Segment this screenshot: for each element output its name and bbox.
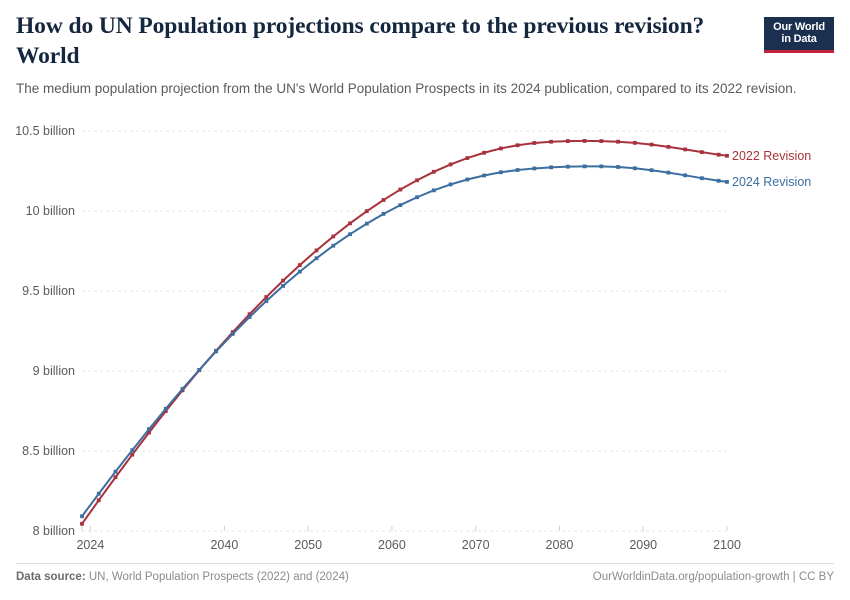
- x-tick-label-4: 2070: [462, 538, 490, 552]
- data-source-text: Data source: UN, World Population Prospe…: [16, 571, 349, 583]
- data-point-marker: [633, 141, 637, 145]
- data-point-marker: [532, 141, 536, 145]
- data-point-marker: [616, 140, 620, 144]
- data-point-marker: [583, 139, 587, 143]
- data-point-marker: [566, 165, 570, 169]
- data-point-marker: [725, 180, 729, 184]
- data-point-marker: [633, 166, 637, 170]
- data-point-marker: [248, 315, 252, 319]
- data-point-marker: [197, 368, 201, 372]
- data-point-marker: [700, 150, 704, 154]
- data-point-marker: [97, 498, 101, 502]
- data-point-marker: [382, 212, 386, 216]
- data-point-marker: [516, 143, 520, 147]
- data-point-marker: [449, 183, 453, 187]
- data-point-marker: [516, 168, 520, 172]
- y-tick-label-5: 8 billion: [5, 524, 75, 538]
- y-tick-label-2: 9.5 billion: [5, 284, 75, 298]
- data-point-marker: [432, 170, 436, 174]
- chart-canvas: 10.5 billion10 billion9.5 billion9 billi…: [0, 118, 850, 558]
- data-point-marker: [415, 178, 419, 182]
- data-point-marker: [549, 165, 553, 169]
- data-point-marker: [432, 188, 436, 192]
- data-point-marker: [80, 522, 84, 526]
- data-point-marker: [666, 145, 670, 149]
- data-point-marker: [97, 492, 101, 496]
- data-point-marker: [683, 148, 687, 152]
- data-point-marker: [700, 176, 704, 180]
- data-point-marker: [717, 179, 721, 183]
- data-point-marker: [499, 170, 503, 174]
- data-point-marker: [566, 139, 570, 143]
- data-point-marker: [415, 195, 419, 199]
- data-point-marker: [725, 154, 729, 158]
- data-point-marker: [683, 173, 687, 177]
- chart-header: How do UN Population projections compare…: [16, 12, 834, 98]
- data-point-marker: [650, 168, 654, 172]
- data-point-marker: [666, 171, 670, 175]
- y-tick-label-4: 8.5 billion: [5, 444, 75, 458]
- x-tick-label-2: 2050: [294, 538, 322, 552]
- data-point-marker: [616, 165, 620, 169]
- data-point-marker: [365, 222, 369, 226]
- series-line: [82, 141, 727, 524]
- legend-item-2[interactable]: 2024 Revision: [732, 175, 811, 189]
- data-point-marker: [398, 188, 402, 192]
- data-point-marker: [465, 156, 469, 160]
- x-tick-label-0: 2024: [76, 538, 104, 552]
- data-source-value: UN, World Population Prospects (2022) an…: [86, 571, 349, 583]
- chart-footer: Data source: UN, World Population Prospe…: [16, 563, 834, 571]
- data-point-marker: [315, 248, 319, 252]
- data-point-marker: [583, 164, 587, 168]
- data-point-marker: [650, 143, 654, 147]
- data-point-marker: [398, 203, 402, 207]
- data-point-marker: [331, 235, 335, 239]
- x-tick-label-5: 2080: [546, 538, 574, 552]
- data-point-marker: [164, 407, 168, 411]
- data-point-marker: [717, 153, 721, 157]
- line-chart-plot[interactable]: [0, 118, 850, 558]
- logo-line-2: in Data: [767, 33, 831, 45]
- legend-item-1[interactable]: 2022 Revision: [732, 149, 811, 163]
- x-tick-label-6: 2090: [629, 538, 657, 552]
- data-point-marker: [130, 448, 134, 452]
- data-point-marker: [264, 295, 268, 299]
- data-point-marker: [382, 198, 386, 202]
- data-point-marker: [298, 270, 302, 274]
- data-point-marker: [348, 221, 352, 225]
- data-point-marker: [281, 279, 285, 283]
- x-tick-label-7: 2100: [713, 538, 741, 552]
- data-point-marker: [482, 174, 486, 178]
- logo-line-1: Our World: [767, 21, 831, 33]
- data-point-marker: [281, 284, 285, 288]
- y-tick-label-3: 9 billion: [5, 364, 75, 378]
- page-title: How do UN Population projections compare…: [16, 12, 716, 72]
- chart-subtitle: The medium population projection from th…: [16, 80, 828, 98]
- data-point-marker: [264, 299, 268, 303]
- data-point-marker: [114, 475, 118, 479]
- series-2[interactable]: [80, 164, 729, 518]
- legend-label-text: 2022 Revision: [732, 149, 811, 163]
- data-point-marker: [298, 263, 302, 267]
- data-point-marker: [181, 387, 185, 391]
- data-point-marker: [331, 244, 335, 248]
- data-point-marker: [532, 167, 536, 171]
- data-point-marker: [549, 140, 553, 144]
- data-point-marker: [599, 164, 603, 168]
- data-point-marker: [114, 470, 118, 474]
- legend-label-text: 2024 Revision: [732, 175, 811, 189]
- series-line: [82, 166, 727, 516]
- data-point-marker: [482, 151, 486, 155]
- data-point-marker: [465, 178, 469, 182]
- data-point-marker: [214, 350, 218, 354]
- data-point-marker: [449, 163, 453, 167]
- x-tick-label-1: 2040: [210, 538, 238, 552]
- chart-page: How do UN Population projections compare…: [0, 0, 850, 600]
- x-tick-label-3: 2060: [378, 538, 406, 552]
- owid-logo[interactable]: Our World in Data: [764, 17, 834, 53]
- data-point-marker: [599, 139, 603, 143]
- data-point-marker: [348, 232, 352, 236]
- y-tick-label-1: 10 billion: [5, 204, 75, 218]
- data-point-marker: [80, 514, 84, 518]
- data-point-marker: [365, 209, 369, 213]
- y-tick-label-0: 10.5 billion: [5, 124, 75, 138]
- data-point-marker: [147, 427, 151, 431]
- series-1[interactable]: [80, 139, 729, 526]
- attribution-link[interactable]: OurWorldinData.org/population-growth | C…: [593, 571, 834, 583]
- data-point-marker: [315, 256, 319, 260]
- data-point-marker: [231, 332, 235, 336]
- data-source-label: Data source:: [16, 571, 86, 583]
- data-point-marker: [499, 147, 503, 151]
